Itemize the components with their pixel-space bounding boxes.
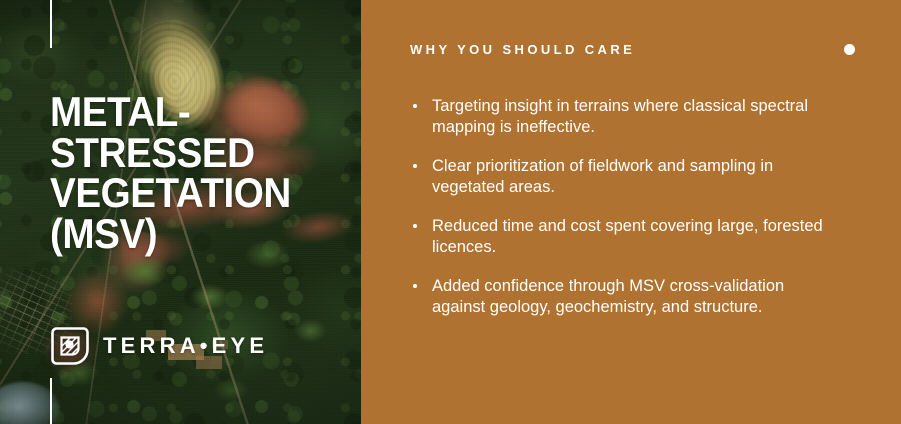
left-panel-content: METAL- STRESSED VEGETATION (MSV) [0, 0, 361, 424]
section-header-row: WHY YOU SHOULD CARE [410, 40, 857, 58]
list-item: Targeting insight in terrains where clas… [410, 96, 830, 139]
bullet-dot-icon [413, 224, 417, 228]
list-item-text: Targeting insight in terrains where clas… [432, 97, 808, 136]
bullet-dot-icon [413, 164, 417, 168]
left-panel: METAL- STRESSED VEGETATION (MSV) [0, 0, 361, 424]
brand-logo: TERRA•EYE [50, 326, 268, 366]
terra-eye-logo-icon [50, 326, 90, 366]
brand-wordmark: TERRA•EYE [103, 335, 268, 357]
list-item: Reduced time and cost spent covering lar… [410, 216, 830, 259]
status-dot-icon [844, 44, 855, 55]
right-panel: WHY YOU SHOULD CARE Targeting insight in… [361, 0, 901, 424]
accent-rule-top [50, 0, 52, 48]
list-item-text: Clear prioritization of fieldwork and sa… [432, 157, 773, 196]
list-item: Added confidence through MSV cross-valid… [410, 276, 830, 319]
slide-root: METAL- STRESSED VEGETATION (MSV) [0, 0, 901, 424]
page-title: METAL- STRESSED VEGETATION (MSV) [50, 92, 326, 255]
accent-rule-bottom [50, 378, 52, 424]
benefits-list: Targeting insight in terrains where clas… [410, 96, 857, 319]
list-item-text: Reduced time and cost spent covering lar… [432, 217, 823, 256]
list-item-text: Added confidence through MSV cross-valid… [432, 277, 784, 316]
bullet-dot-icon [413, 104, 417, 108]
section-eyebrow-label: WHY YOU SHOULD CARE [410, 43, 635, 56]
list-item: Clear prioritization of fieldwork and sa… [410, 156, 830, 199]
bullet-dot-icon [413, 284, 417, 288]
